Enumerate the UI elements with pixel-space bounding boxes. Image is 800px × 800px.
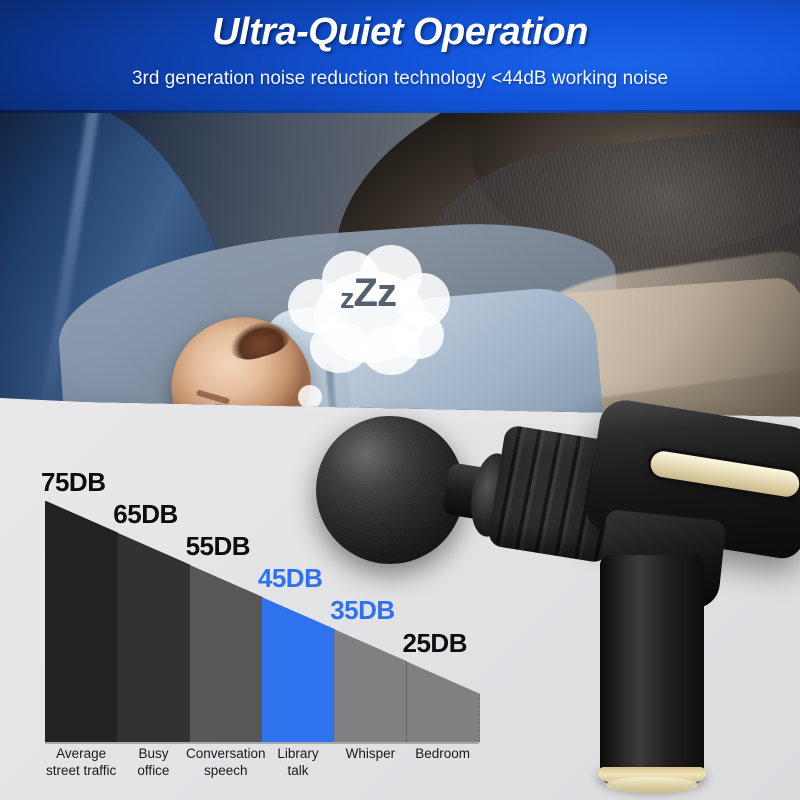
sleep-thought-bubble: zZz [288,249,448,384]
chart-bar [45,501,118,743]
page-title: Ultra-Quiet Operation [0,11,800,54]
page-subtitle: 3rd generation noise reduction technolog… [0,68,800,90]
zzz-small-right: z [377,271,396,315]
chart-bar [117,533,190,742]
header-banner: Ultra-Quiet Operation 3rd generation noi… [0,0,800,113]
gun-ball-head-attachment [316,416,464,564]
zzz-large: Z [354,271,377,315]
product-marketing-image: Ultra-Quiet Operation 3rd generation noi… [0,0,800,800]
chart-value-label: 55DB [186,531,250,562]
gun-base-inner [606,777,698,793]
sleeping-baby-photo: zZz [0,113,800,443]
zzz-small-left: z [340,283,354,315]
massage-gun-product [300,395,800,800]
chart-value-label: 75DB [41,467,105,498]
chart-bar [190,565,263,742]
zzz-text: zZz [288,273,448,314]
gun-handle [600,555,704,785]
chart-value-label: 65DB [113,499,177,530]
